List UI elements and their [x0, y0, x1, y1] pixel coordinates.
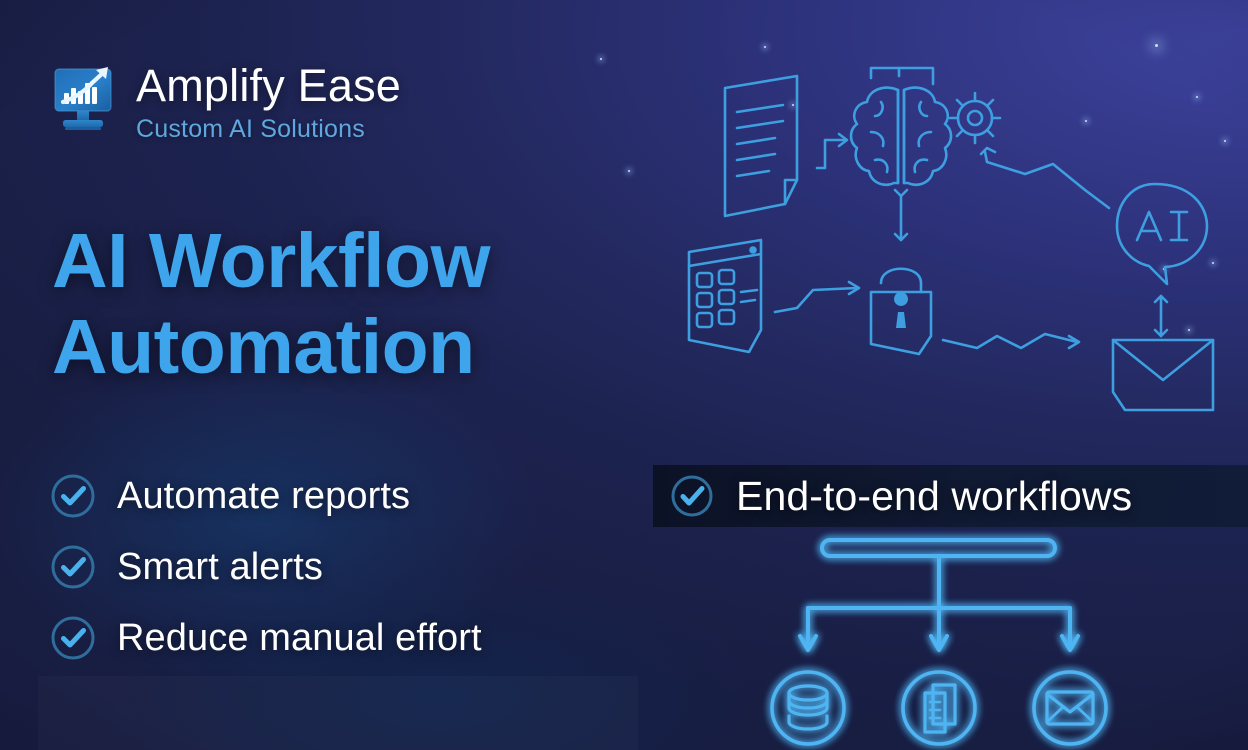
- headline-line-2: Automation: [52, 304, 490, 390]
- list-item: Smart alerts: [50, 531, 650, 602]
- database-icon: [772, 672, 844, 744]
- check-circle-icon: [50, 473, 96, 519]
- brain-icon: [851, 88, 951, 185]
- list-item-label: Reduce manual effort: [117, 616, 482, 660]
- page-title: AI Workflow Automation: [52, 218, 490, 390]
- list-item: Reduce manual effort: [50, 602, 650, 673]
- workflow-diagram-top: [685, 40, 1248, 440]
- check-circle-icon: [50, 544, 96, 590]
- list-item-label: Smart alerts: [117, 545, 323, 589]
- right-graphics-column: End-to-end workflows: [640, 0, 1248, 750]
- workflow-diagram-bottom: [750, 532, 1150, 750]
- feature-bullet-list: Automate reports Smart alerts: [50, 460, 650, 673]
- status-badge-label: End-to-end workflows: [736, 473, 1132, 519]
- headline-line-1: AI Workflow: [52, 218, 490, 304]
- envelope-icon: [1034, 672, 1106, 744]
- check-circle-icon: [50, 615, 96, 661]
- monitor-chart-growth-icon: [52, 64, 120, 136]
- list-item: Automate reports: [50, 460, 650, 531]
- check-circle-icon: [670, 474, 714, 518]
- document-icon: [903, 672, 975, 744]
- dashboard-grid-icon: [689, 240, 761, 352]
- envelope-icon: [1113, 340, 1213, 410]
- list-item-label: Automate reports: [117, 474, 410, 518]
- brand-text-block: Amplify Ease Custom AI Solutions: [136, 60, 401, 145]
- gear-icon: [950, 93, 1000, 143]
- brand-lockup: Amplify Ease Custom AI Solutions: [52, 60, 401, 145]
- poster-canvas: Amplify Ease Custom AI Solutions AI Work…: [0, 0, 1248, 750]
- left-content-column: Amplify Ease Custom AI Solutions AI Work…: [0, 0, 640, 750]
- ai-speech-bubble-icon: [1117, 184, 1207, 284]
- lock-icon: [871, 269, 931, 354]
- brand-tagline: Custom AI Solutions: [136, 113, 401, 145]
- brand-name: Amplify Ease: [136, 60, 401, 112]
- pill-bar-icon: [822, 540, 1055, 556]
- status-badge: End-to-end workflows: [653, 465, 1248, 527]
- document-lines-icon: [725, 76, 797, 216]
